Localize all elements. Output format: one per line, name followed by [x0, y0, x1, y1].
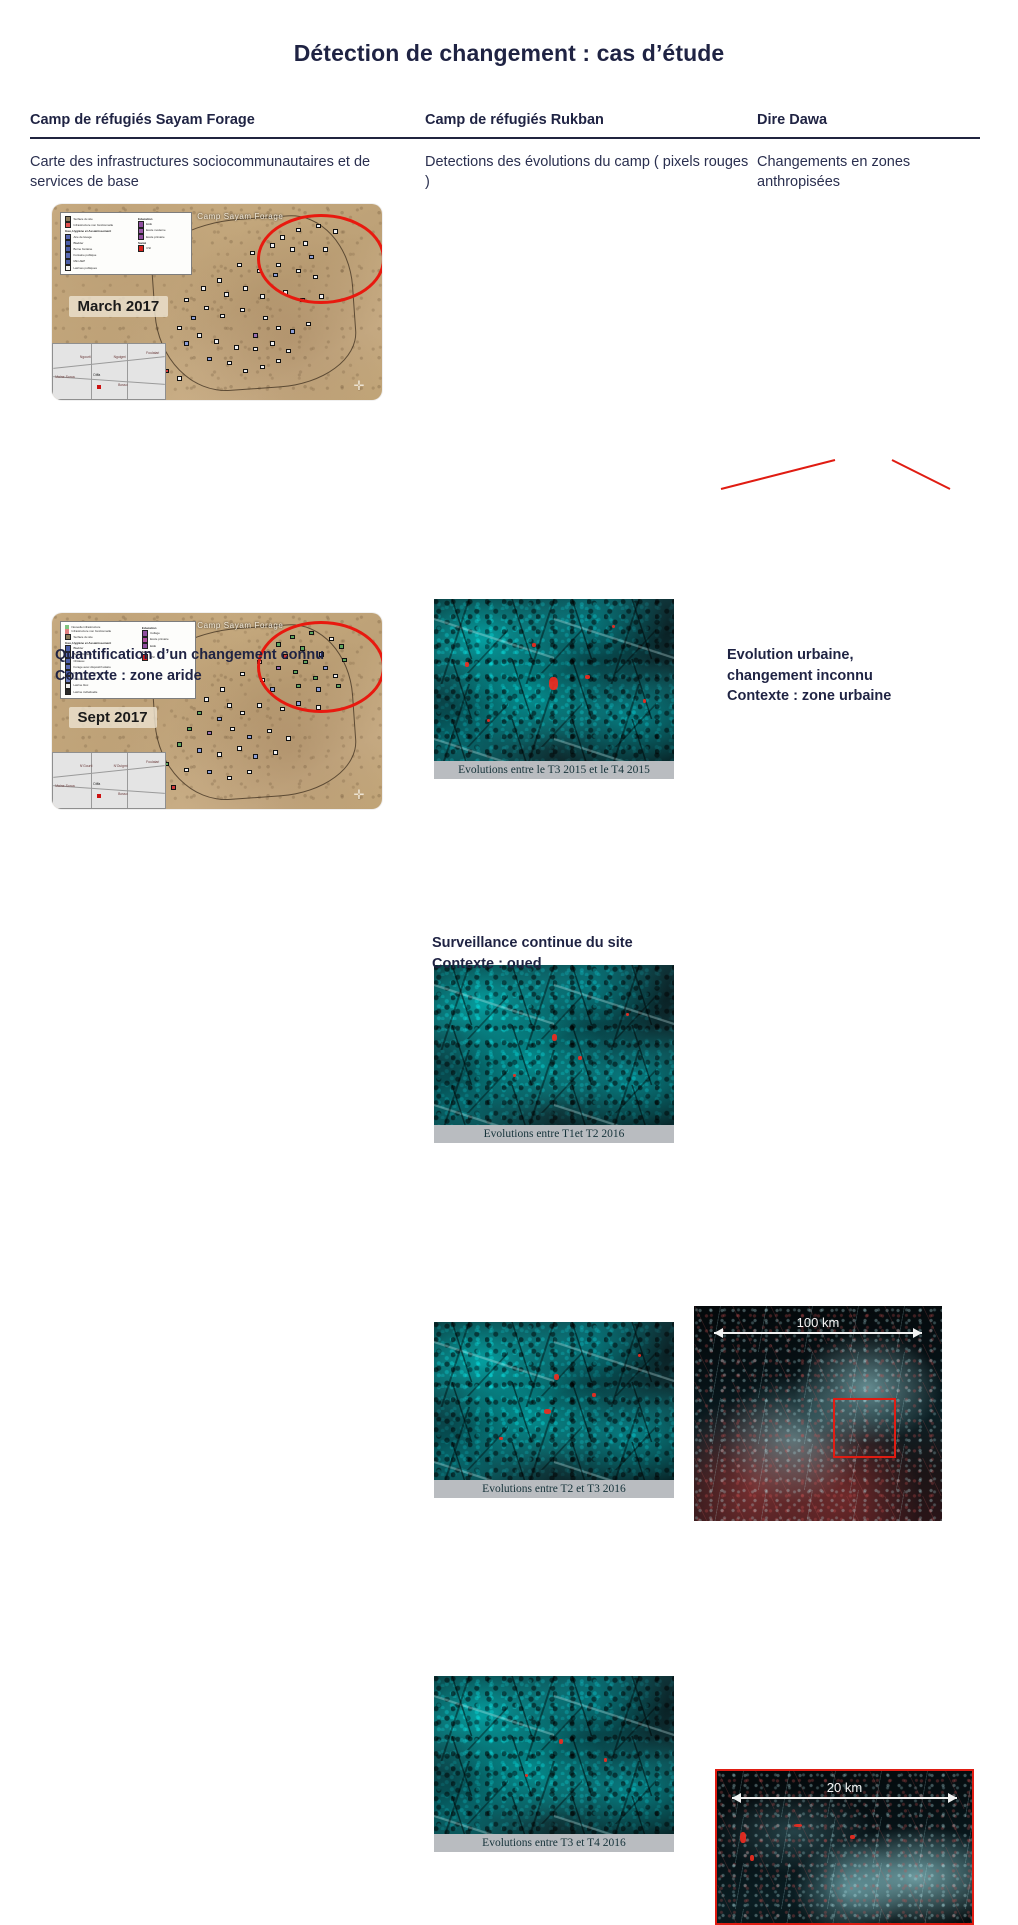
legend-swatch-latrine-individuelle: [65, 689, 71, 695]
change-detection-raster: [434, 599, 674, 761]
inset-town-label: Bosso: [118, 792, 127, 796]
inset-town-label: Maine-Soroa: [55, 784, 74, 788]
inset-town-label: Diffa: [93, 373, 100, 377]
legend-label: Aire de lavage: [73, 235, 91, 239]
legend-label: Fontaine publique: [73, 253, 96, 257]
column-subtitle-sayam-forage: Carte des infrastructures sociocommunaut…: [30, 153, 415, 192]
region-of-interest-box: [833, 1398, 897, 1458]
dire-dawa-zoom-inset[interactable]: 20 km: [715, 1769, 974, 1925]
compass-icon: ✛: [353, 379, 366, 392]
column-footer-sayam-forage: Quantification d’un changement connu Con…: [55, 645, 395, 686]
scale-bar-20km: 20 km: [732, 1797, 956, 1799]
change-tile-t1-t2-2016[interactable]: Evolutions entre T1et T2 2016: [434, 965, 674, 1143]
change-detection-raster: [434, 965, 674, 1125]
legend-label: Borne fontaine: [73, 247, 92, 251]
change-pixel-cluster: [554, 1374, 559, 1380]
change-pixel-cluster: [532, 643, 536, 647]
column-sayam-forage: Camp de réfugiés Sayam Forage Carte des …: [30, 112, 415, 193]
legend-label: Latrine individuelle: [73, 690, 97, 694]
tile-caption: Evolutions entre T3 et T4 2016: [434, 1834, 674, 1852]
date-badge-sept-2017: Sept 2017: [69, 707, 157, 728]
change-pixel-cluster: [750, 1855, 754, 1861]
change-pixel-cluster: [549, 677, 558, 690]
inset-town-label: N’Ouigmi: [114, 764, 128, 768]
change-pixel-cluster: [544, 1409, 551, 1414]
legend-swatch-surface-du-site: [65, 634, 71, 640]
inset-town-label: Maine-Soroa: [55, 375, 74, 379]
highlight-circle-march: [257, 214, 382, 304]
compass-icon: ✛: [353, 788, 366, 801]
change-pixel-cluster: [638, 1354, 641, 1357]
scale-bar-label: 20 km: [732, 1780, 956, 1795]
column-subtitle-rukban: Detections des évolutions du camp ( pixe…: [425, 153, 750, 192]
legend-label: Latrines publiques: [73, 266, 96, 270]
legend-label: Surface du site: [73, 217, 92, 221]
change-pixel-cluster: [559, 1739, 563, 1744]
legend-label: Ecole moderne: [146, 228, 165, 232]
legend-swatch-csi: [138, 245, 144, 251]
legend-swatch-infra-non-fonctionnelle: [65, 222, 71, 228]
inset-town-label: Ngourti: [80, 355, 91, 359]
tile-caption: Evolutions entre T2 et T3 2016: [434, 1480, 674, 1498]
change-pixel-cluster: [552, 1034, 557, 1041]
change-tile-t3-t4-2016[interactable]: Evolutions entre T3 et T4 2016: [434, 1676, 674, 1852]
change-pixel-cluster: [794, 1824, 802, 1827]
column-header-rukban: Camp de réfugiés Rukban: [425, 112, 750, 129]
scale-bar-label: 100 km: [714, 1315, 922, 1330]
legend-swatch-ecole-primaire: [138, 234, 144, 240]
change-pixel-cluster: [513, 1074, 516, 1077]
scale-bar-100km: 100 km: [714, 1332, 922, 1334]
change-pixel-cluster: [626, 1013, 629, 1016]
legend-label: Collège: [150, 631, 160, 635]
change-tile-t3-2015-t4-2015[interactable]: Evolutions entre le T3 2015 et le T4 201…: [434, 599, 674, 779]
column-footer-rukban: Surveillance continue du site Contexte :…: [432, 933, 752, 974]
inset-town-label: Nguigmi: [114, 355, 126, 359]
column-header-dire-dawa: Dire Dawa: [757, 112, 982, 129]
column-subtitle-dire-dawa: Changements en zones anthropisées: [757, 153, 982, 192]
map-sayam-forage-march-2017[interactable]: Camp Sayam Forage: [52, 204, 382, 400]
change-pixel-cluster: [578, 1056, 582, 1060]
inset-town-label: Foulatari: [146, 351, 159, 355]
page-title: Détection de changement : cas d’étude: [0, 40, 1018, 67]
change-pixel-cluster: [740, 1832, 746, 1843]
legend-label: Bladder: [73, 241, 83, 245]
legend-label: Ecole primaire: [150, 637, 168, 641]
legend-swatch-latrines-publiques: [65, 265, 71, 271]
inset-town-label: Foulatari: [146, 760, 159, 764]
legend-label: Surface du site: [73, 635, 92, 639]
change-pixel-cluster: [525, 1774, 528, 1777]
column-dire-dawa: Dire Dawa Changements en zones anthropis…: [757, 112, 982, 193]
camp-label-march: Camp Sayam Forage: [197, 212, 283, 221]
change-tile-t2-t3-2016[interactable]: Evolutions entre T2 et T3 2016: [434, 1322, 674, 1498]
locator-inset-sept: N’Gourti N’Ouigmi Foulatari Maine-Soroa …: [52, 752, 166, 809]
tile-caption: Evolutions entre T1et T2 2016: [434, 1125, 674, 1143]
column-rukban: Camp de réfugiés Rukban Detections des é…: [425, 112, 750, 193]
change-pixel-cluster: [612, 625, 615, 628]
legend-label: Mini AEP: [73, 259, 85, 263]
change-pixel-cluster: [850, 1835, 855, 1839]
map-sayam-forage-sept-2017[interactable]: Camp Sayam Forage: [52, 613, 382, 809]
date-badge-march-2017: March 2017: [69, 296, 169, 317]
tile-caption: Evolutions entre le T3 2015 et le T4 201…: [434, 761, 674, 779]
map-legend-march: Surface du site Infrastructure non fonct…: [60, 212, 192, 275]
locator-inset-march: Ngourti Nguigmi Foulatari Maine-Soroa Di…: [52, 343, 166, 400]
case-study-columns: Camp de réfugiés Sayam Forage Carte des …: [0, 112, 1018, 1000]
legend-label: Ecole primaire: [146, 235, 164, 239]
change-pixel-cluster: [487, 719, 490, 722]
camp-label-sept: Camp Sayam Forage: [197, 621, 283, 630]
column-footer-dire-dawa: Evolution urbaine, changement inconnu Co…: [727, 645, 977, 707]
column-header-sayam-forage: Camp de réfugiés Sayam Forage: [30, 112, 415, 129]
change-detection-raster: [434, 1676, 674, 1834]
inset-town-label: N’Gourti: [80, 764, 92, 768]
dire-dawa-overview-image[interactable]: 100 km: [694, 1306, 942, 1521]
inset-site-marker: [97, 794, 101, 798]
change-detection-raster: [434, 1322, 674, 1480]
legend-label: EAE: [146, 222, 152, 226]
legend-label: CSI: [146, 246, 151, 250]
inset-town-label: Bosso: [118, 383, 127, 387]
inset-town-label: Diffa: [93, 782, 100, 786]
legend-label: Infrastructure non fonctionnelle: [73, 223, 113, 227]
zoom-connector-lines: [694, 394, 954, 489]
inset-site-marker: [97, 385, 101, 389]
